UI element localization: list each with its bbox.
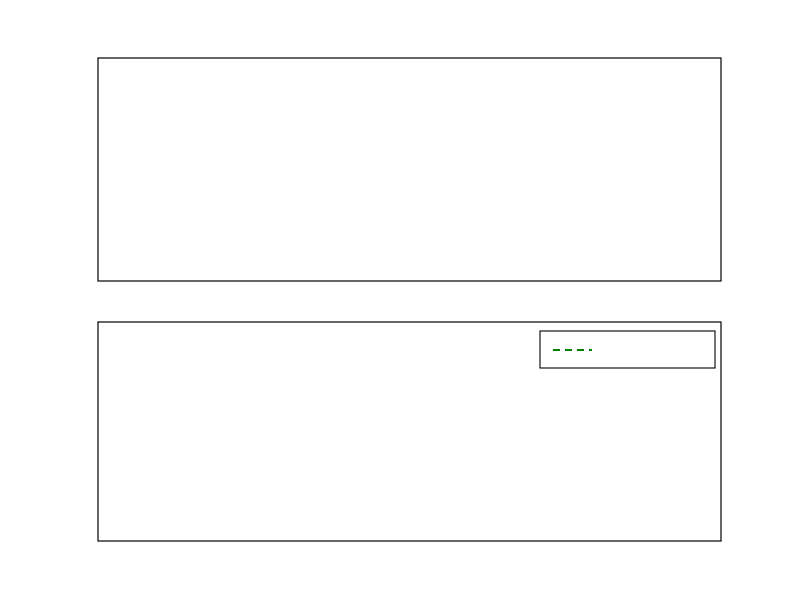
bottom-axes: [98, 322, 721, 541]
figure-canvas: [0, 0, 800, 600]
legend[interactable]: [540, 331, 715, 368]
matplotlib-figure: [0, 0, 800, 600]
top-axes: [98, 58, 721, 281]
top-plot-background: [98, 58, 721, 281]
